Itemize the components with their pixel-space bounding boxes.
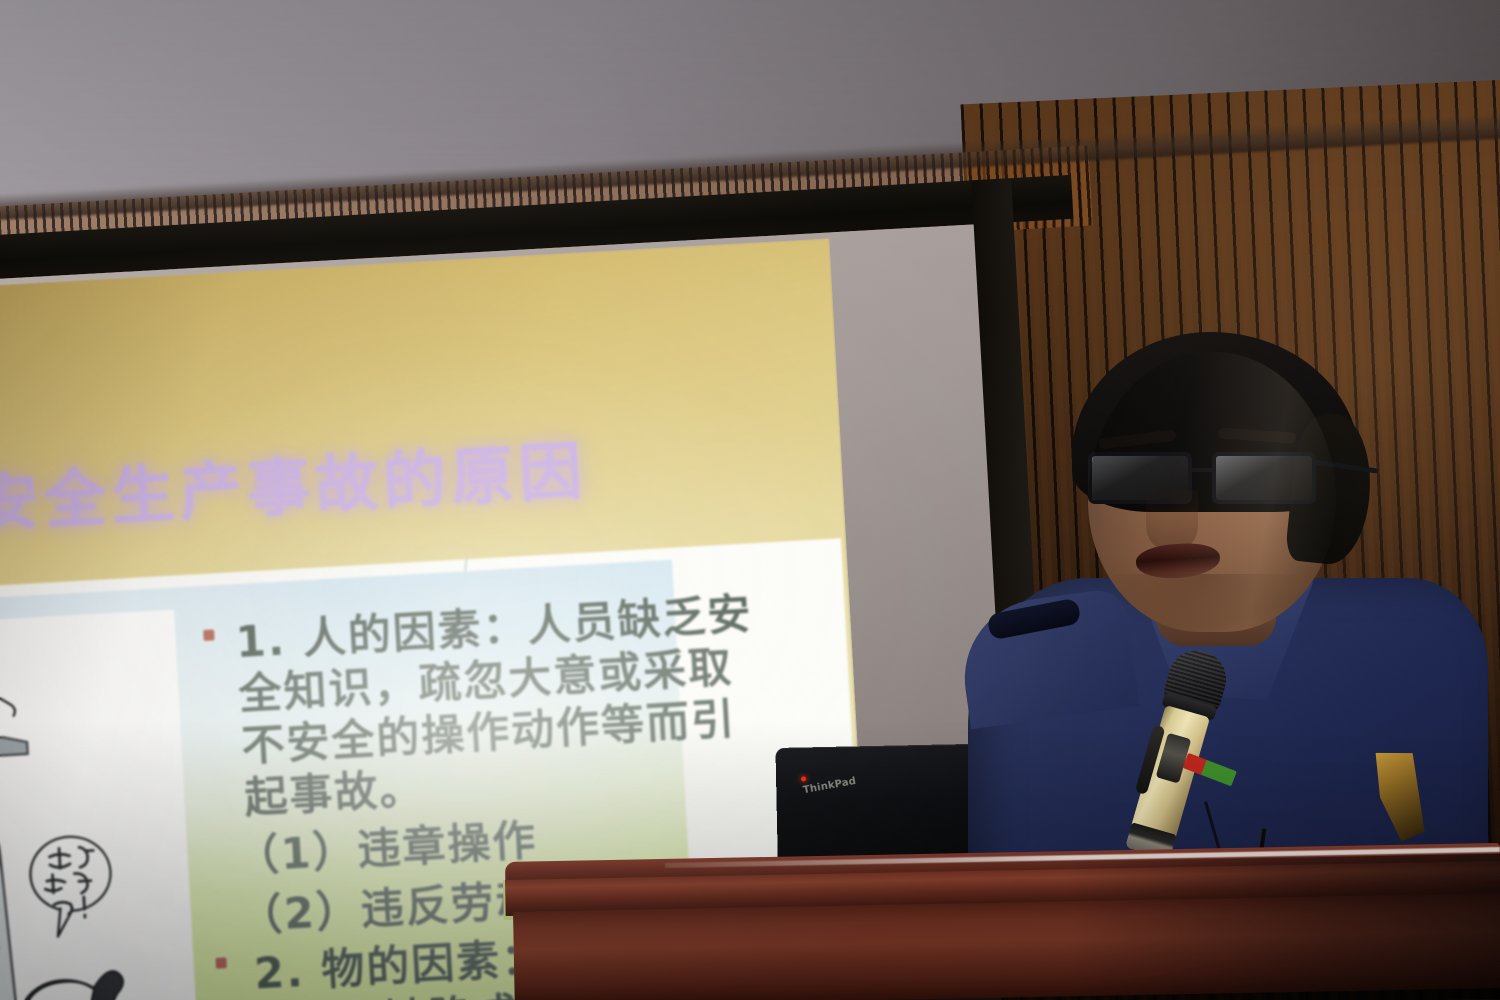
- lectern-front-panel: [513, 893, 1500, 1000]
- lectern: [505, 862, 1500, 1000]
- bullet-marker-2: [215, 957, 227, 969]
- laptop-brand-text: ThinkPad: [802, 776, 857, 796]
- safety-cartoon-illustration: [0, 610, 201, 1000]
- bullet-marker: [203, 629, 215, 641]
- face-shading: [1088, 352, 1336, 632]
- slide-title: 成安全生产事故的原因: [0, 420, 589, 549]
- photo-scene: 成安全生产事故的原因: [0, 0, 1500, 1000]
- thinkpad-logo: ThinkPad: [801, 774, 839, 793]
- cartoon-plate: [0, 610, 201, 1000]
- presenter: [960, 330, 1500, 930]
